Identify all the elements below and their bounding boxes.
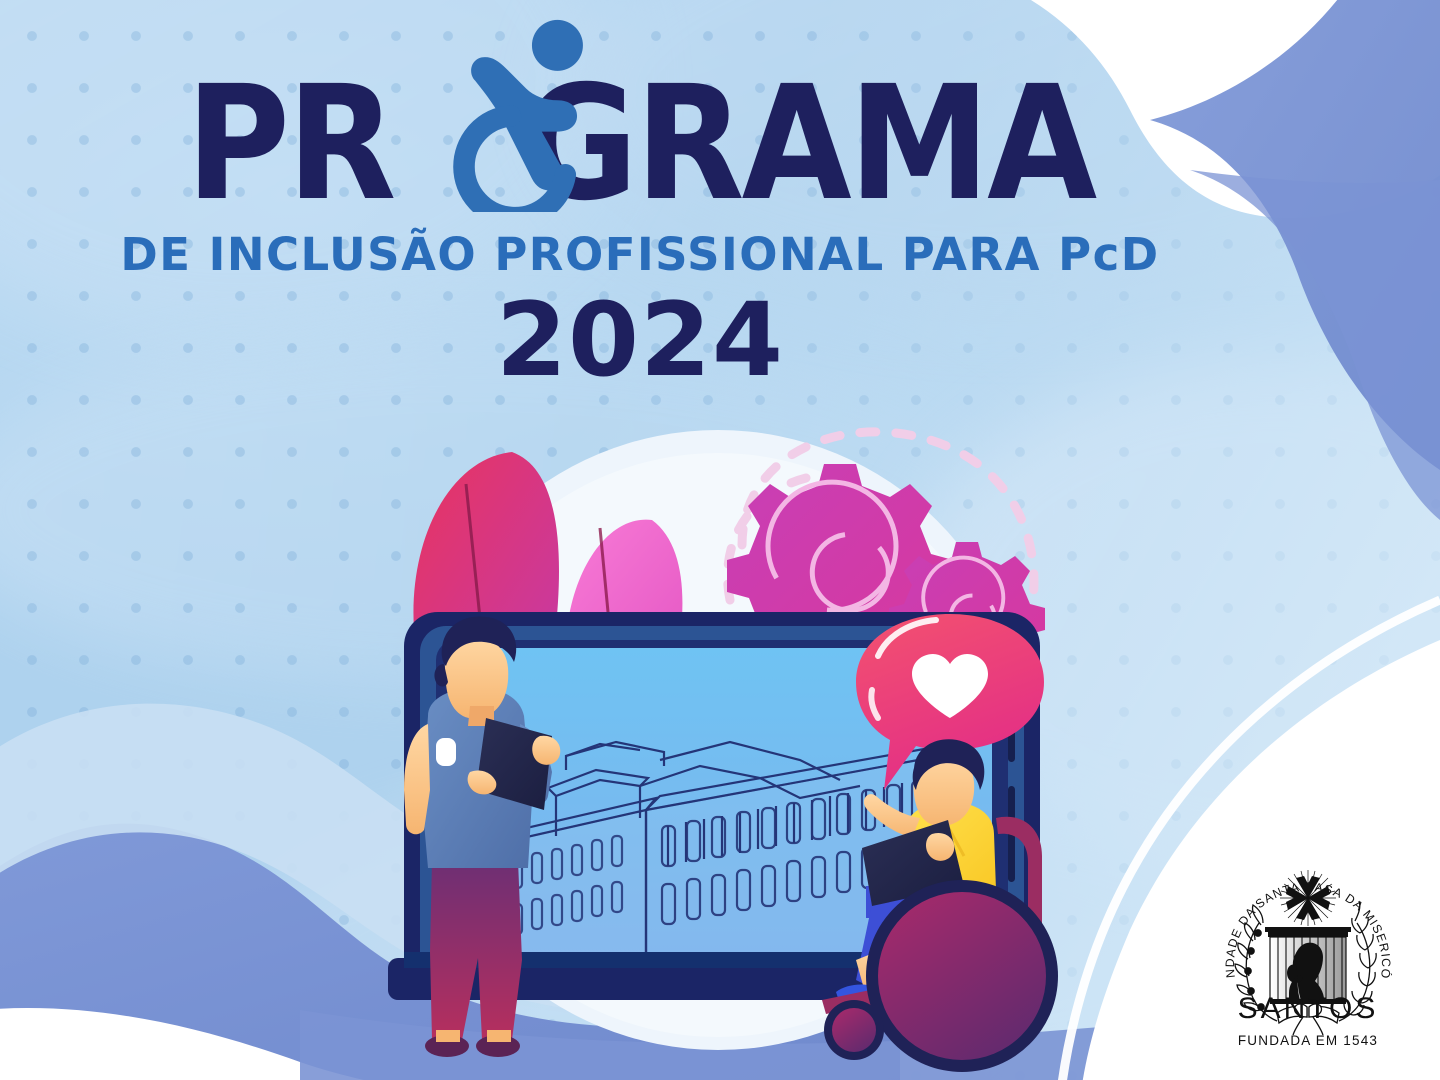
wheelchair-caster-inner [832,1008,876,1052]
program-year: 2024 [0,287,1280,395]
wheelchair-wheel-inner [878,892,1046,1060]
logo-name-santos: SANTOS [1203,992,1413,1026]
logo-emblem: IRMANDADE DA SANTA CASA DA MISERICÓRDIA [1203,855,1413,1060]
title-block: PRGRAMA DE INCLUSÃO PROFISSIONAL PARA Pc… [0,78,1280,395]
man-id-badge [436,738,456,766]
maltese-cross-icon [1280,870,1336,926]
program-title-line: PRGRAMA [186,78,1094,210]
title-text-pr: PR [186,78,394,210]
santa-casa-logo: IRMANDADE DA SANTA CASA DA MISERICÓRDIA [1203,855,1413,1060]
wheelchair-accessibility-icon [432,12,628,212]
poster-canvas: PRGRAMA DE INCLUSÃO PROFISSIONAL PARA Pc… [0,0,1440,1080]
logo-founded-text: FUNDADA EM 1543 [1203,1033,1413,1048]
